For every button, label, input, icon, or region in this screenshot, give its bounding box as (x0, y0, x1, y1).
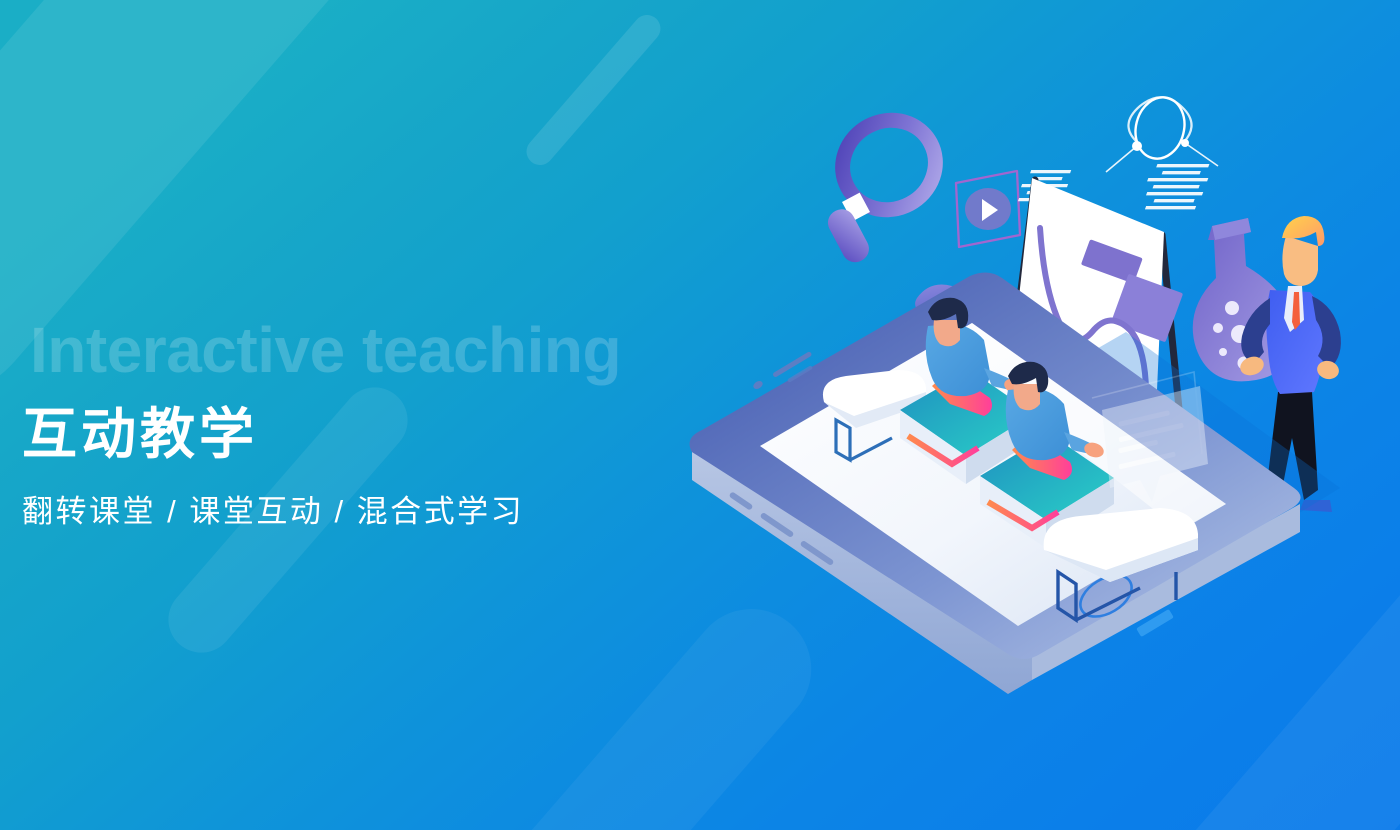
interactive-teaching-banner: Interactive teaching 互动教学 翻转课堂 / 课堂互动 / … (0, 0, 1400, 830)
idea-text-lines-right (1145, 164, 1210, 209)
video-play-icon (956, 171, 1020, 247)
banner-subtitle: 翻转课堂 / 课堂互动 / 混合式学习 (22, 486, 621, 531)
magnifier-icon (823, 104, 951, 267)
classroom-illustration (640, 80, 1400, 780)
ghost-title: Interactive teaching (30, 318, 621, 382)
page-title: 互动教学 (22, 404, 621, 466)
banner-text-block: Interactive teaching 互动教学 翻转课堂 / 课堂互动 / … (22, 318, 621, 531)
